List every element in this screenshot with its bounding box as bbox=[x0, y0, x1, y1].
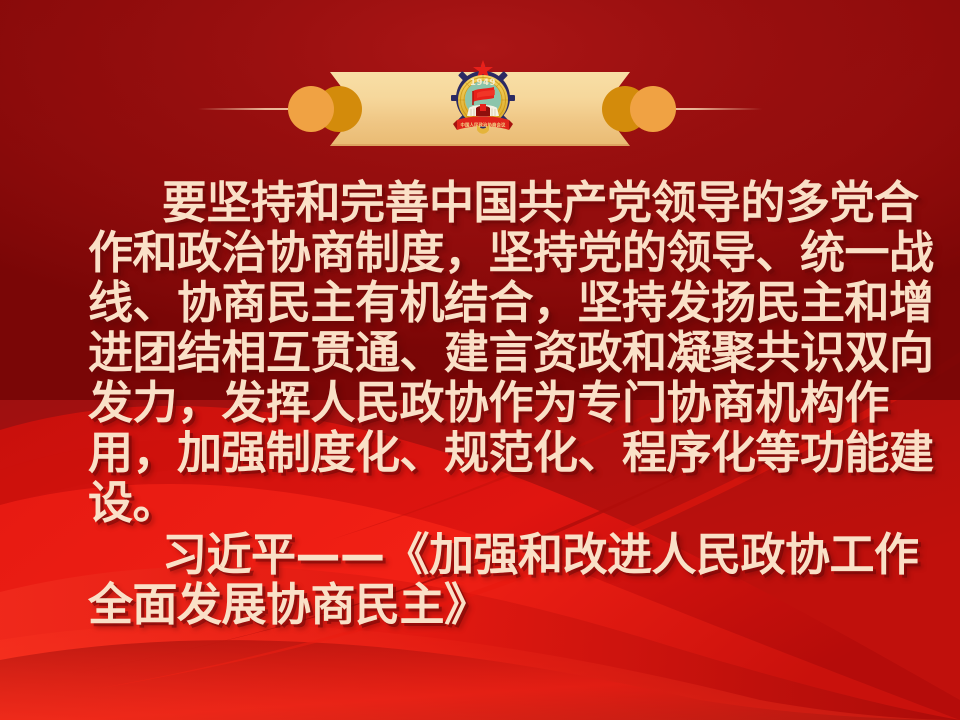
banner-rule-left bbox=[198, 108, 294, 110]
quote-line: 设。 bbox=[88, 478, 858, 528]
emblem-year-label: 1949 bbox=[470, 78, 496, 88]
banner-rule-right bbox=[666, 108, 762, 110]
quote-block: 要坚持和完善中国共产党领导的多党合 作和政治协商制度，坚持党的领导、统一战 线、… bbox=[88, 178, 858, 630]
gold-dot-light-icon bbox=[630, 86, 676, 132]
quote-line: 用，加强制度化、规范化、程序化等功能建 bbox=[88, 428, 858, 478]
attribution-line: 全面发展协商民主》 bbox=[88, 580, 858, 630]
attribution-line: 习近平——《加强和改进人民政协工作 bbox=[88, 530, 858, 580]
poster-canvas: 1949 bbox=[0, 0, 960, 720]
quote-line: 要坚持和完善中国共产党领导的多党合 bbox=[88, 178, 858, 228]
gold-dots-right bbox=[602, 86, 676, 132]
cppcc-emblem-icon: 1949 bbox=[449, 58, 517, 150]
quote-line: 线、协商民主有机结合，坚持发扬民主和增 bbox=[88, 278, 858, 328]
cppcc-emblem-svg: 1949 bbox=[449, 58, 517, 150]
quote-line: 发力，发挥人民政协作为专门协商机构作 bbox=[88, 378, 858, 428]
gold-dots-left bbox=[288, 86, 362, 132]
gold-dot-light-icon bbox=[288, 86, 334, 132]
quote-line: 作和政治协商制度，坚持党的领导、统一战 bbox=[88, 228, 858, 278]
quote-attribution: 习近平——《加强和改进人民政协工作 全面发展协商民主》 bbox=[88, 530, 858, 630]
emblem-ribbon-label: 中国人民政治协商会议 bbox=[461, 122, 506, 129]
quote-line: 进团结相互贯通、建言资政和凝聚共识双向 bbox=[88, 328, 858, 378]
